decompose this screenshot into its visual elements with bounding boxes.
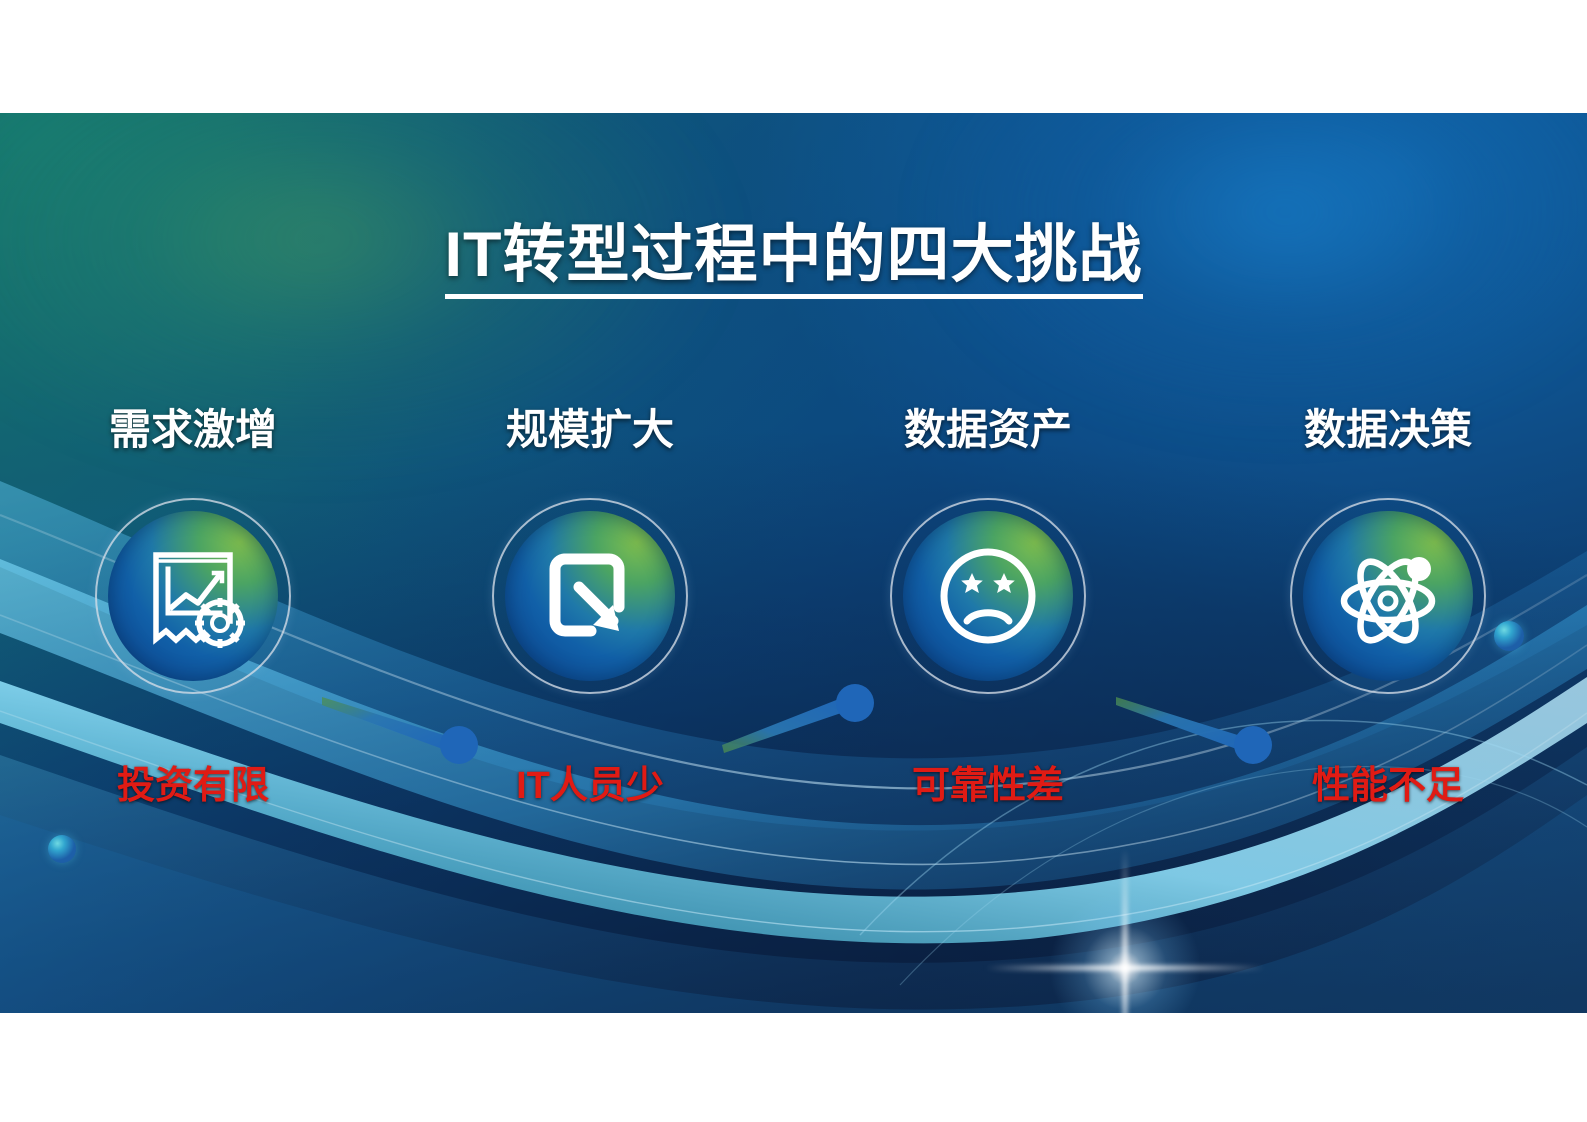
circle-disc (1303, 511, 1473, 681)
atom-icon (1303, 511, 1473, 681)
step-label-demand-surge: 需求激增 (63, 396, 323, 457)
step-label-data-asset: 数据资产 (858, 396, 1118, 457)
step-circle-data-asset[interactable] (890, 498, 1086, 694)
issue-label-data-asset: 可靠性差 (858, 754, 1118, 809)
challenge-steps: 需求激增 (0, 113, 1587, 1013)
circle-disc (903, 511, 1073, 681)
expand-arrow-icon (505, 511, 675, 681)
circle-disc (505, 511, 675, 681)
chart-report-gear-icon (108, 511, 278, 681)
step-label-scale-expansion: 规模扩大 (460, 396, 720, 457)
step-label-data-decision: 数据决策 (1258, 396, 1518, 457)
circle-disc (108, 511, 278, 681)
slide-canvas: IT转型过程中的四大挑战 (0, 113, 1587, 1013)
step-circle-scale-expansion[interactable] (492, 498, 688, 694)
sad-face-icon (903, 511, 1073, 681)
step-circle-data-decision[interactable] (1290, 498, 1486, 694)
issue-label-data-decision: 性能不足 (1258, 754, 1518, 809)
issue-label-scale-expansion: IT人员少 (460, 754, 720, 809)
issue-label-demand-surge: 投资有限 (63, 754, 323, 809)
step-circle-demand-surge[interactable] (95, 498, 291, 694)
